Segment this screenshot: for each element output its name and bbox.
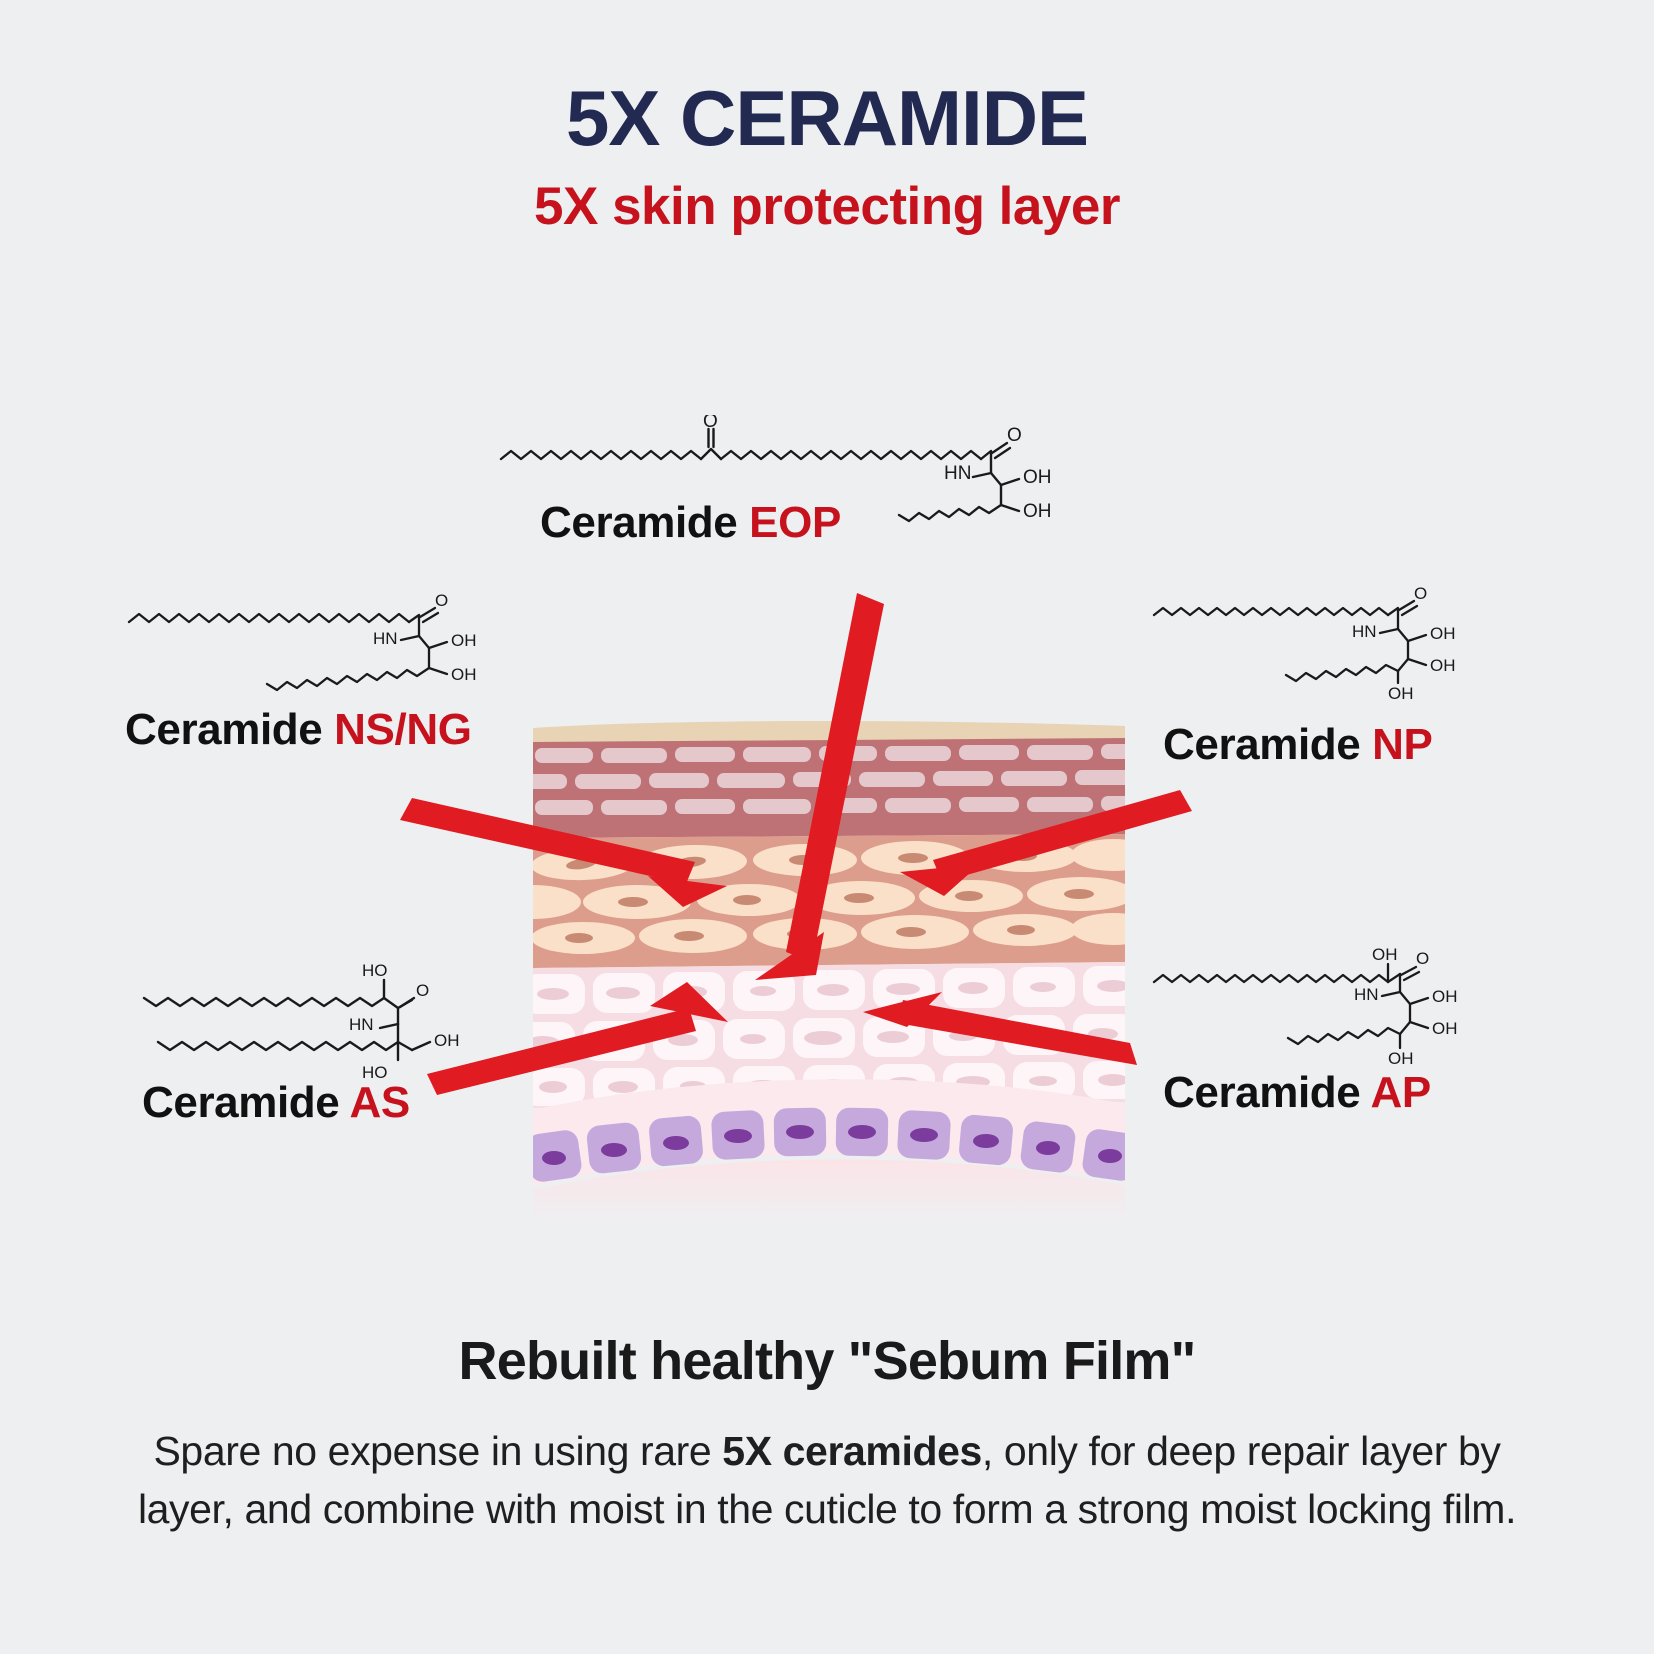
molecule-ceramide-ap: OH O HN OH OH OH xyxy=(1150,930,1510,1070)
atom-label-oh: OH xyxy=(434,1031,460,1050)
corneocyte-bricks xyxy=(533,744,1125,815)
label-code: AS xyxy=(350,1078,410,1127)
atom-label-oh-top: OH xyxy=(1372,945,1398,964)
footer-body-part1: Spare no expense in using rare xyxy=(153,1428,722,1474)
label-code: NS/NG xyxy=(334,705,471,754)
atom-label-o2: O xyxy=(1007,425,1022,446)
molecule-ceramide-nsng: O HN OH OH xyxy=(125,590,525,700)
footer-body-bold: 5X ceramides xyxy=(722,1428,982,1474)
molecule-ap-svg: OH O HN OH OH OH xyxy=(1150,930,1510,1070)
page-subtitle: 5X skin protecting layer xyxy=(0,176,1654,237)
atom-label-oh3: OH xyxy=(1388,684,1414,703)
atom-label-ho1: HO xyxy=(362,961,388,980)
label-ceramide-np: Ceramide NP xyxy=(1163,720,1433,770)
atom-label-o: O xyxy=(435,591,448,610)
skin-cross-section-diagram xyxy=(533,712,1125,1222)
atom-label-oh2: OH xyxy=(1432,1019,1458,1038)
molecule-as-svg: HO O HN OH HO xyxy=(140,950,505,1090)
atom-label-hn: HN xyxy=(1354,985,1379,1004)
atom-label-o: O xyxy=(1414,585,1427,603)
label-code: NP xyxy=(1372,720,1432,769)
atom-label-oh1: OH xyxy=(1023,467,1052,488)
molecule-ceramide-as: HO O HN OH HO xyxy=(140,950,505,1090)
atom-label-hn: HN xyxy=(1352,622,1377,641)
label-ceramide-ap: Ceramide AP xyxy=(1163,1068,1431,1118)
atom-label-oh2: OH xyxy=(451,665,477,684)
atom-label-oh2: OH xyxy=(1430,656,1456,675)
footer-heading: Rebuilt healthy "Sebum Film" xyxy=(0,1330,1654,1392)
label-ceramide-nsng: Ceramide NS/NG xyxy=(125,705,472,755)
atom-label-oh2: OH xyxy=(1023,501,1052,522)
atom-label-oh1: OH xyxy=(451,631,477,650)
label-prefix: Ceramide xyxy=(1163,720,1372,769)
page-title: 5X CERAMIDE xyxy=(0,78,1654,160)
skin-layers-svg xyxy=(533,712,1125,1222)
atom-label-o: O xyxy=(416,981,429,1000)
atom-label-oh1: OH xyxy=(1432,987,1458,1006)
atom-label-oh3: OH xyxy=(1388,1049,1414,1068)
label-code: AP xyxy=(1371,1068,1431,1117)
label-prefix: Ceramide xyxy=(142,1078,350,1127)
molecule-np-svg: O HN OH OH OH xyxy=(1150,585,1510,705)
atom-label-o: O xyxy=(1416,949,1429,968)
atom-label-oh1: OH xyxy=(1430,624,1456,643)
atom-label-hn: HN xyxy=(373,629,398,648)
molecule-ceramide-np: O HN OH OH OH xyxy=(1150,585,1510,705)
label-prefix: Ceramide xyxy=(1163,1068,1371,1117)
atom-label-hn: HN xyxy=(944,463,971,484)
label-ceramide-as: Ceramide AS xyxy=(142,1078,410,1128)
label-prefix: Ceramide xyxy=(540,498,749,547)
label-prefix: Ceramide xyxy=(125,705,334,754)
label-code: EOP xyxy=(749,498,841,547)
atom-label-hn: HN xyxy=(349,1015,374,1034)
molecule-nsng-svg: O HN OH OH xyxy=(125,590,525,700)
atom-label-o: O xyxy=(703,415,718,432)
infographic-page: 5X CERAMIDE 5X skin protecting layer xyxy=(0,0,1654,1654)
header: 5X CERAMIDE 5X skin protecting layer xyxy=(0,78,1654,237)
footer-body: Spare no expense in using rare 5X cerami… xyxy=(0,1422,1654,1538)
footer: Rebuilt healthy "Sebum Film" Spare no ex… xyxy=(0,1330,1654,1538)
label-ceramide-eop: Ceramide EOP xyxy=(540,498,841,548)
